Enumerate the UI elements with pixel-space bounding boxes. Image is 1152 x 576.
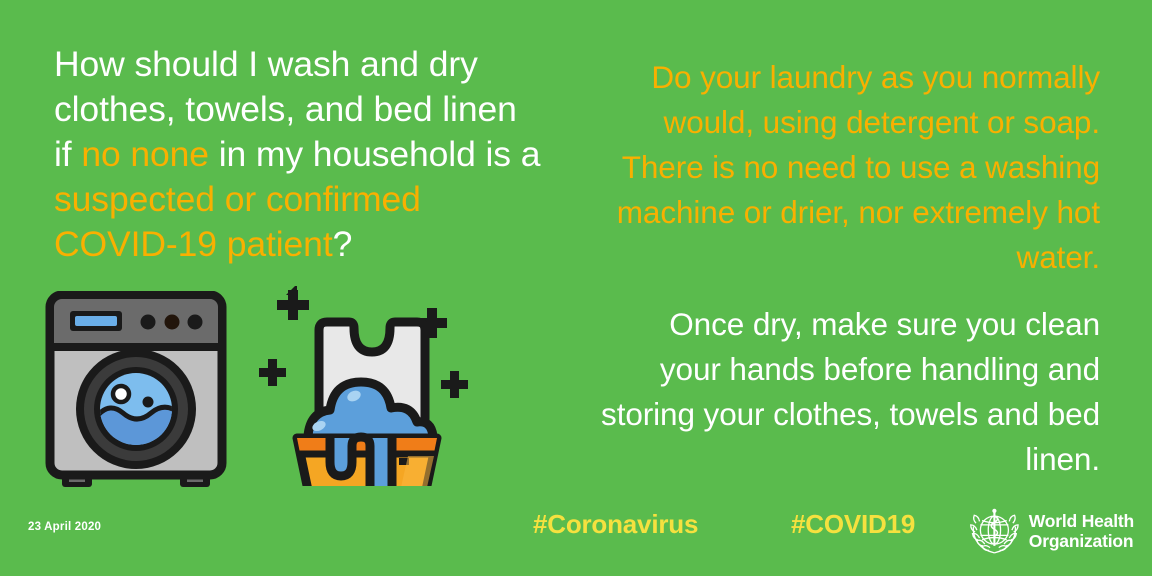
laundry-basket-icon (258, 286, 476, 486)
answer-column: Do your laundry as you normally would, u… (600, 55, 1100, 482)
question-highlight-covid-patient: COVID-19 patient (54, 224, 333, 264)
answer-paragraph-1: Do your laundry as you normally would, u… (600, 55, 1100, 280)
who-logo-line-1: World Health (1029, 511, 1134, 531)
publication-date: 23 April 2020 (28, 521, 101, 533)
question-line-2: clothes, towels, and bed linen (54, 89, 517, 129)
question-line-3-prefix: if (54, 134, 81, 174)
who-logo-text: World Health Organization (1029, 511, 1134, 551)
question-highlight-no-none: no none (81, 134, 209, 174)
who-emblem-icon (969, 502, 1020, 560)
washing-machine-icon (42, 291, 230, 489)
who-logo: World Health Organization (969, 500, 1134, 562)
answer-paragraph-2: Once dry, make sure you clean your hands… (600, 302, 1100, 482)
question-line-1: How should I wash and dry (54, 44, 478, 84)
hashtag-covid19[interactable]: #COVID19 (791, 509, 915, 540)
question-heading: How should I wash and dry clothes, towel… (54, 42, 584, 267)
who-logo-line-2: Organization (1029, 531, 1134, 551)
question-highlight-suspected: suspected or confirmed (54, 179, 421, 219)
question-line-3-suffix: in my household is a (209, 134, 540, 174)
question-mark: ? (333, 224, 353, 264)
hashtag-coronavirus[interactable]: #Coronavirus (533, 509, 698, 540)
who-infographic-poster: How should I wash and dry clothes, towel… (0, 0, 1152, 576)
